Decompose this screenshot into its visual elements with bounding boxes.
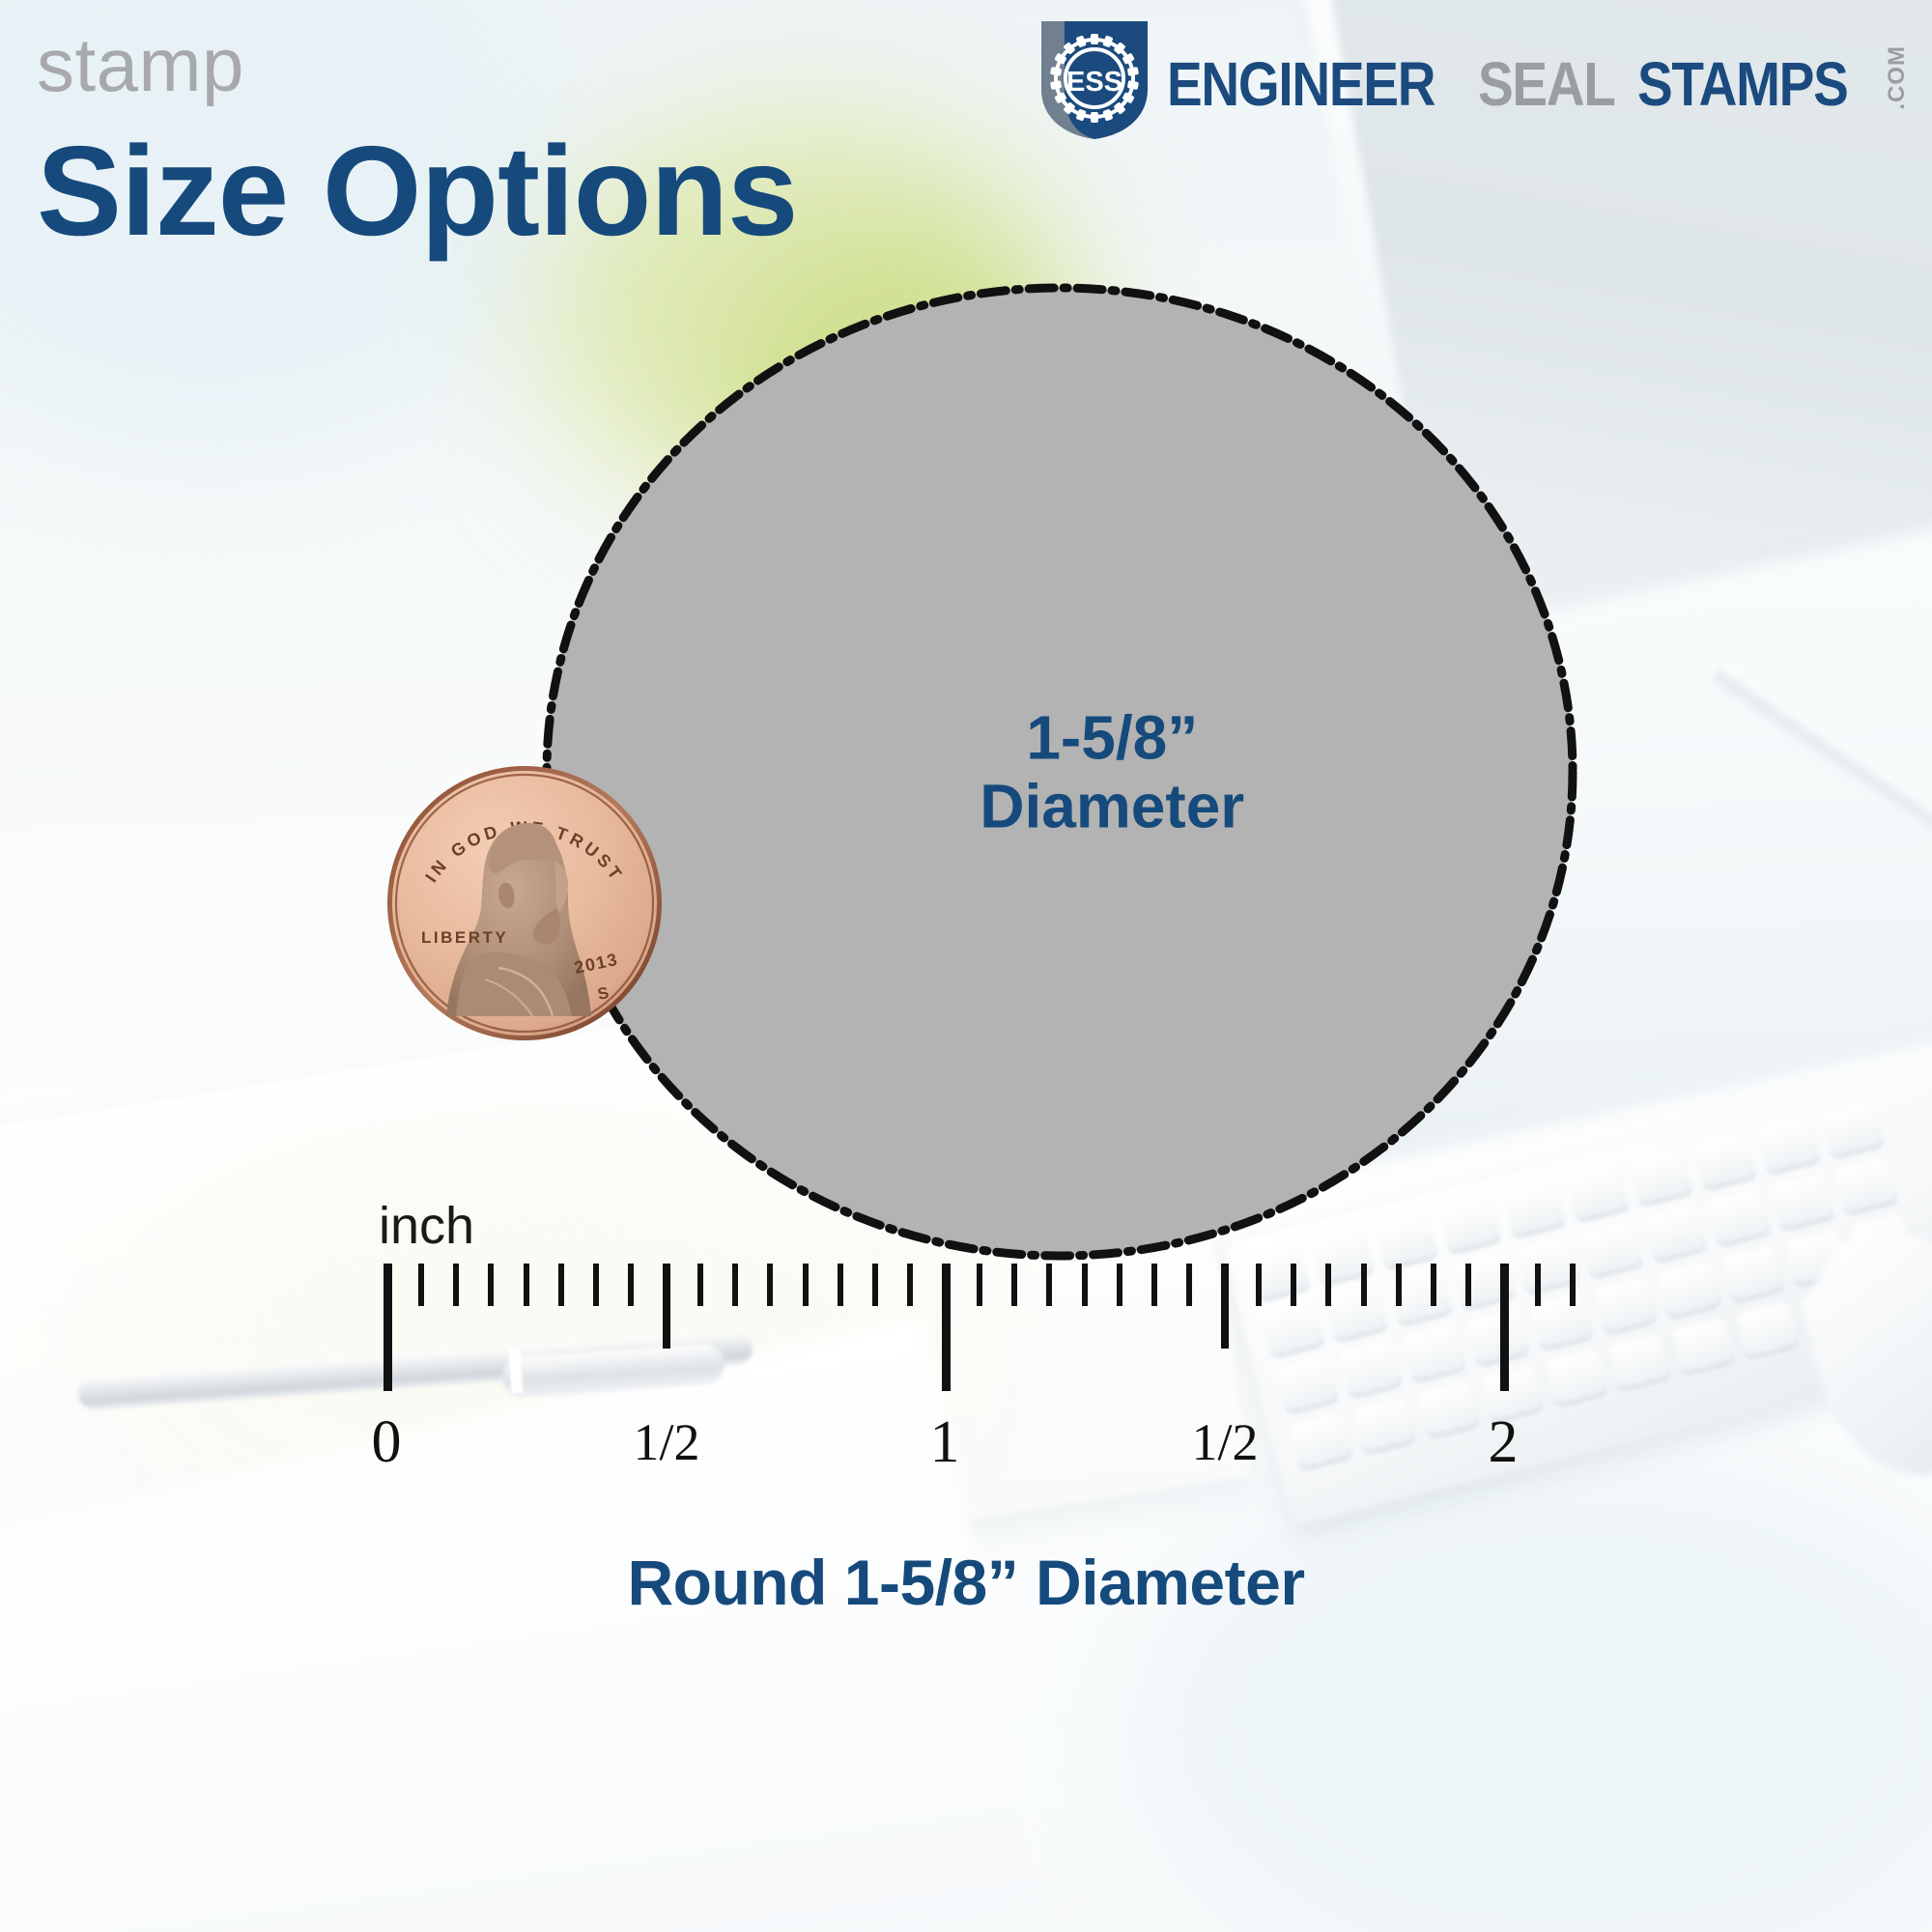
- ruler-tick-minor: [803, 1264, 809, 1306]
- ruler-tick-minor: [732, 1264, 738, 1306]
- ruler-tick-minor: [1465, 1264, 1471, 1306]
- ruler-tick-major: [384, 1264, 392, 1391]
- ess-monogram: ESS: [1066, 67, 1122, 98]
- ruler-tick-minor: [697, 1264, 703, 1306]
- brand-engineer: ENGINEER: [1167, 56, 1435, 113]
- ruler-tick-minor: [1117, 1264, 1122, 1306]
- ruler-label: 1/2: [633, 1412, 699, 1472]
- ruler-tick-minor: [977, 1264, 982, 1306]
- ruler-tick-minor: [1082, 1264, 1088, 1306]
- ruler-tick-minor: [1011, 1264, 1017, 1306]
- ruler-tick-minor: [1151, 1264, 1157, 1306]
- ruler-tick-half: [663, 1264, 670, 1349]
- penny-coin-image: IN GOD WE TRUST LIBERTY 2013 S: [384, 763, 665, 1043]
- ruler-tick-minor: [453, 1264, 459, 1306]
- size-dimension: 1-5/8”: [812, 703, 1411, 773]
- brand-seal: SEAL: [1478, 56, 1615, 113]
- ruler-tick-minor: [628, 1264, 634, 1306]
- size-callout-text: 1-5/8” Diameter: [812, 703, 1411, 841]
- ruler-tick-minor: [1361, 1264, 1367, 1306]
- ruler-tick-major: [1500, 1264, 1509, 1391]
- size-caption: Round 1-5/8” Diameter: [0, 1546, 1932, 1619]
- ruler-tick-minor: [524, 1264, 529, 1306]
- ruler-label: 0: [372, 1408, 402, 1477]
- ruler-tick-minor: [767, 1264, 773, 1306]
- ruler-tick-minor: [838, 1264, 843, 1306]
- ruler-tick-minor: [1570, 1264, 1576, 1306]
- brand-wordmark: ENGINEER SEAL STAMPS .COM: [1167, 45, 1911, 114]
- coin-liberty: LIBERTY: [421, 928, 508, 947]
- size-preview-circle: 1-5/8” Diameter: [541, 282, 1579, 1263]
- ruler-label: 1: [930, 1408, 960, 1477]
- ruler-tick-minor: [907, 1264, 913, 1306]
- ruler-tick-minor: [1046, 1264, 1052, 1306]
- ruler-label: 2: [1489, 1408, 1519, 1477]
- brand-tld: .COM: [1884, 45, 1911, 110]
- ruler-tick-minor: [558, 1264, 564, 1306]
- size-options-graphic: stamp Size Options: [0, 0, 1932, 1932]
- ruler-tick-minor: [1396, 1264, 1402, 1306]
- page-title: Size Options: [37, 128, 797, 255]
- ruler-tick-minor: [593, 1264, 599, 1306]
- ess-shield-icon: ESS: [1036, 17, 1153, 141]
- ruler-tick-minor: [1325, 1264, 1331, 1306]
- inch-ruler: inch 01/211/22: [0, 1198, 1932, 1517]
- size-dimension-label: Diameter: [812, 773, 1411, 842]
- ruler-tick-half: [1221, 1264, 1229, 1349]
- brand-stamps: STAMPS: [1637, 56, 1848, 113]
- ruler-unit-label: inch: [379, 1196, 474, 1256]
- ruler-tick-minor: [1431, 1264, 1436, 1306]
- kicker-stamp: stamp: [37, 27, 244, 102]
- ruler-tick-minor: [1186, 1264, 1192, 1306]
- brand-logo[interactable]: ESS ENGINEER SEAL STAMPS .COM: [1036, 17, 1911, 141]
- ruler-tick-major: [942, 1264, 951, 1391]
- ruler-tick-minor: [1535, 1264, 1541, 1306]
- ruler-tick-minor: [418, 1264, 424, 1306]
- ruler-label: 1/2: [1191, 1412, 1258, 1472]
- ruler-tick-minor: [1256, 1264, 1262, 1306]
- ruler-tick-minor: [872, 1264, 878, 1306]
- ruler-tick-minor: [1291, 1264, 1296, 1306]
- ruler-tick-minor: [488, 1264, 494, 1306]
